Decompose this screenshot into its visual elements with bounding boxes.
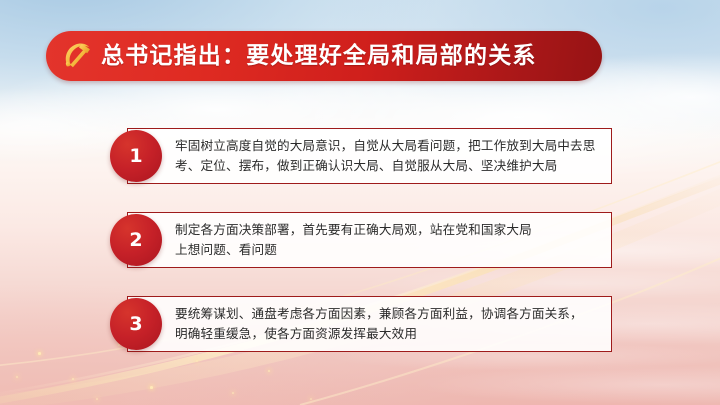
point-number-badge: 2	[110, 214, 162, 266]
point-text: 牢固树立高度自觉的大局意识，自觉从大局看问题，把工作放到大局中去思 考、定位、摆…	[175, 136, 596, 177]
point-text: 制定各方面决策部署，首先要有正确大局观，站在党和国家大局 上想问题、看问题	[175, 220, 532, 261]
list-item: 牢固树立高度自觉的大局意识，自觉从大局看问题，把工作放到大局中去思 考、定位、摆…	[110, 128, 612, 184]
point-box: 牢固树立高度自觉的大局意识，自觉从大局看问题，把工作放到大局中去思 考、定位、摆…	[127, 128, 612, 184]
point-box: 制定各方面决策部署，首先要有正确大局观，站在党和国家大局 上想问题、看问题	[127, 212, 612, 268]
point-number-badge: 1	[110, 130, 162, 182]
list-item: 制定各方面决策部署，首先要有正确大局观，站在党和国家大局 上想问题、看问题 2	[110, 212, 612, 268]
point-text: 要统筹谋划、通盘考虑各方面因素，兼顾各方面利益，协调各方面关系， 明确轻重缓急，…	[175, 304, 583, 345]
point-number-badge: 3	[110, 298, 162, 350]
points-list: 牢固树立高度自觉的大局意识，自觉从大局看问题，把工作放到大局中去思 考、定位、摆…	[0, 0, 720, 405]
slide-canvas: 总书记指出：要处理好全局和局部的关系 牢固树立高度自觉的大局意识，自觉从大局看问…	[0, 0, 720, 405]
list-item: 要统筹谋划、通盘考虑各方面因素，兼顾各方面利益，协调各方面关系， 明确轻重缓急，…	[110, 296, 612, 352]
point-box: 要统筹谋划、通盘考虑各方面因素，兼顾各方面利益，协调各方面关系， 明确轻重缓急，…	[127, 296, 612, 352]
